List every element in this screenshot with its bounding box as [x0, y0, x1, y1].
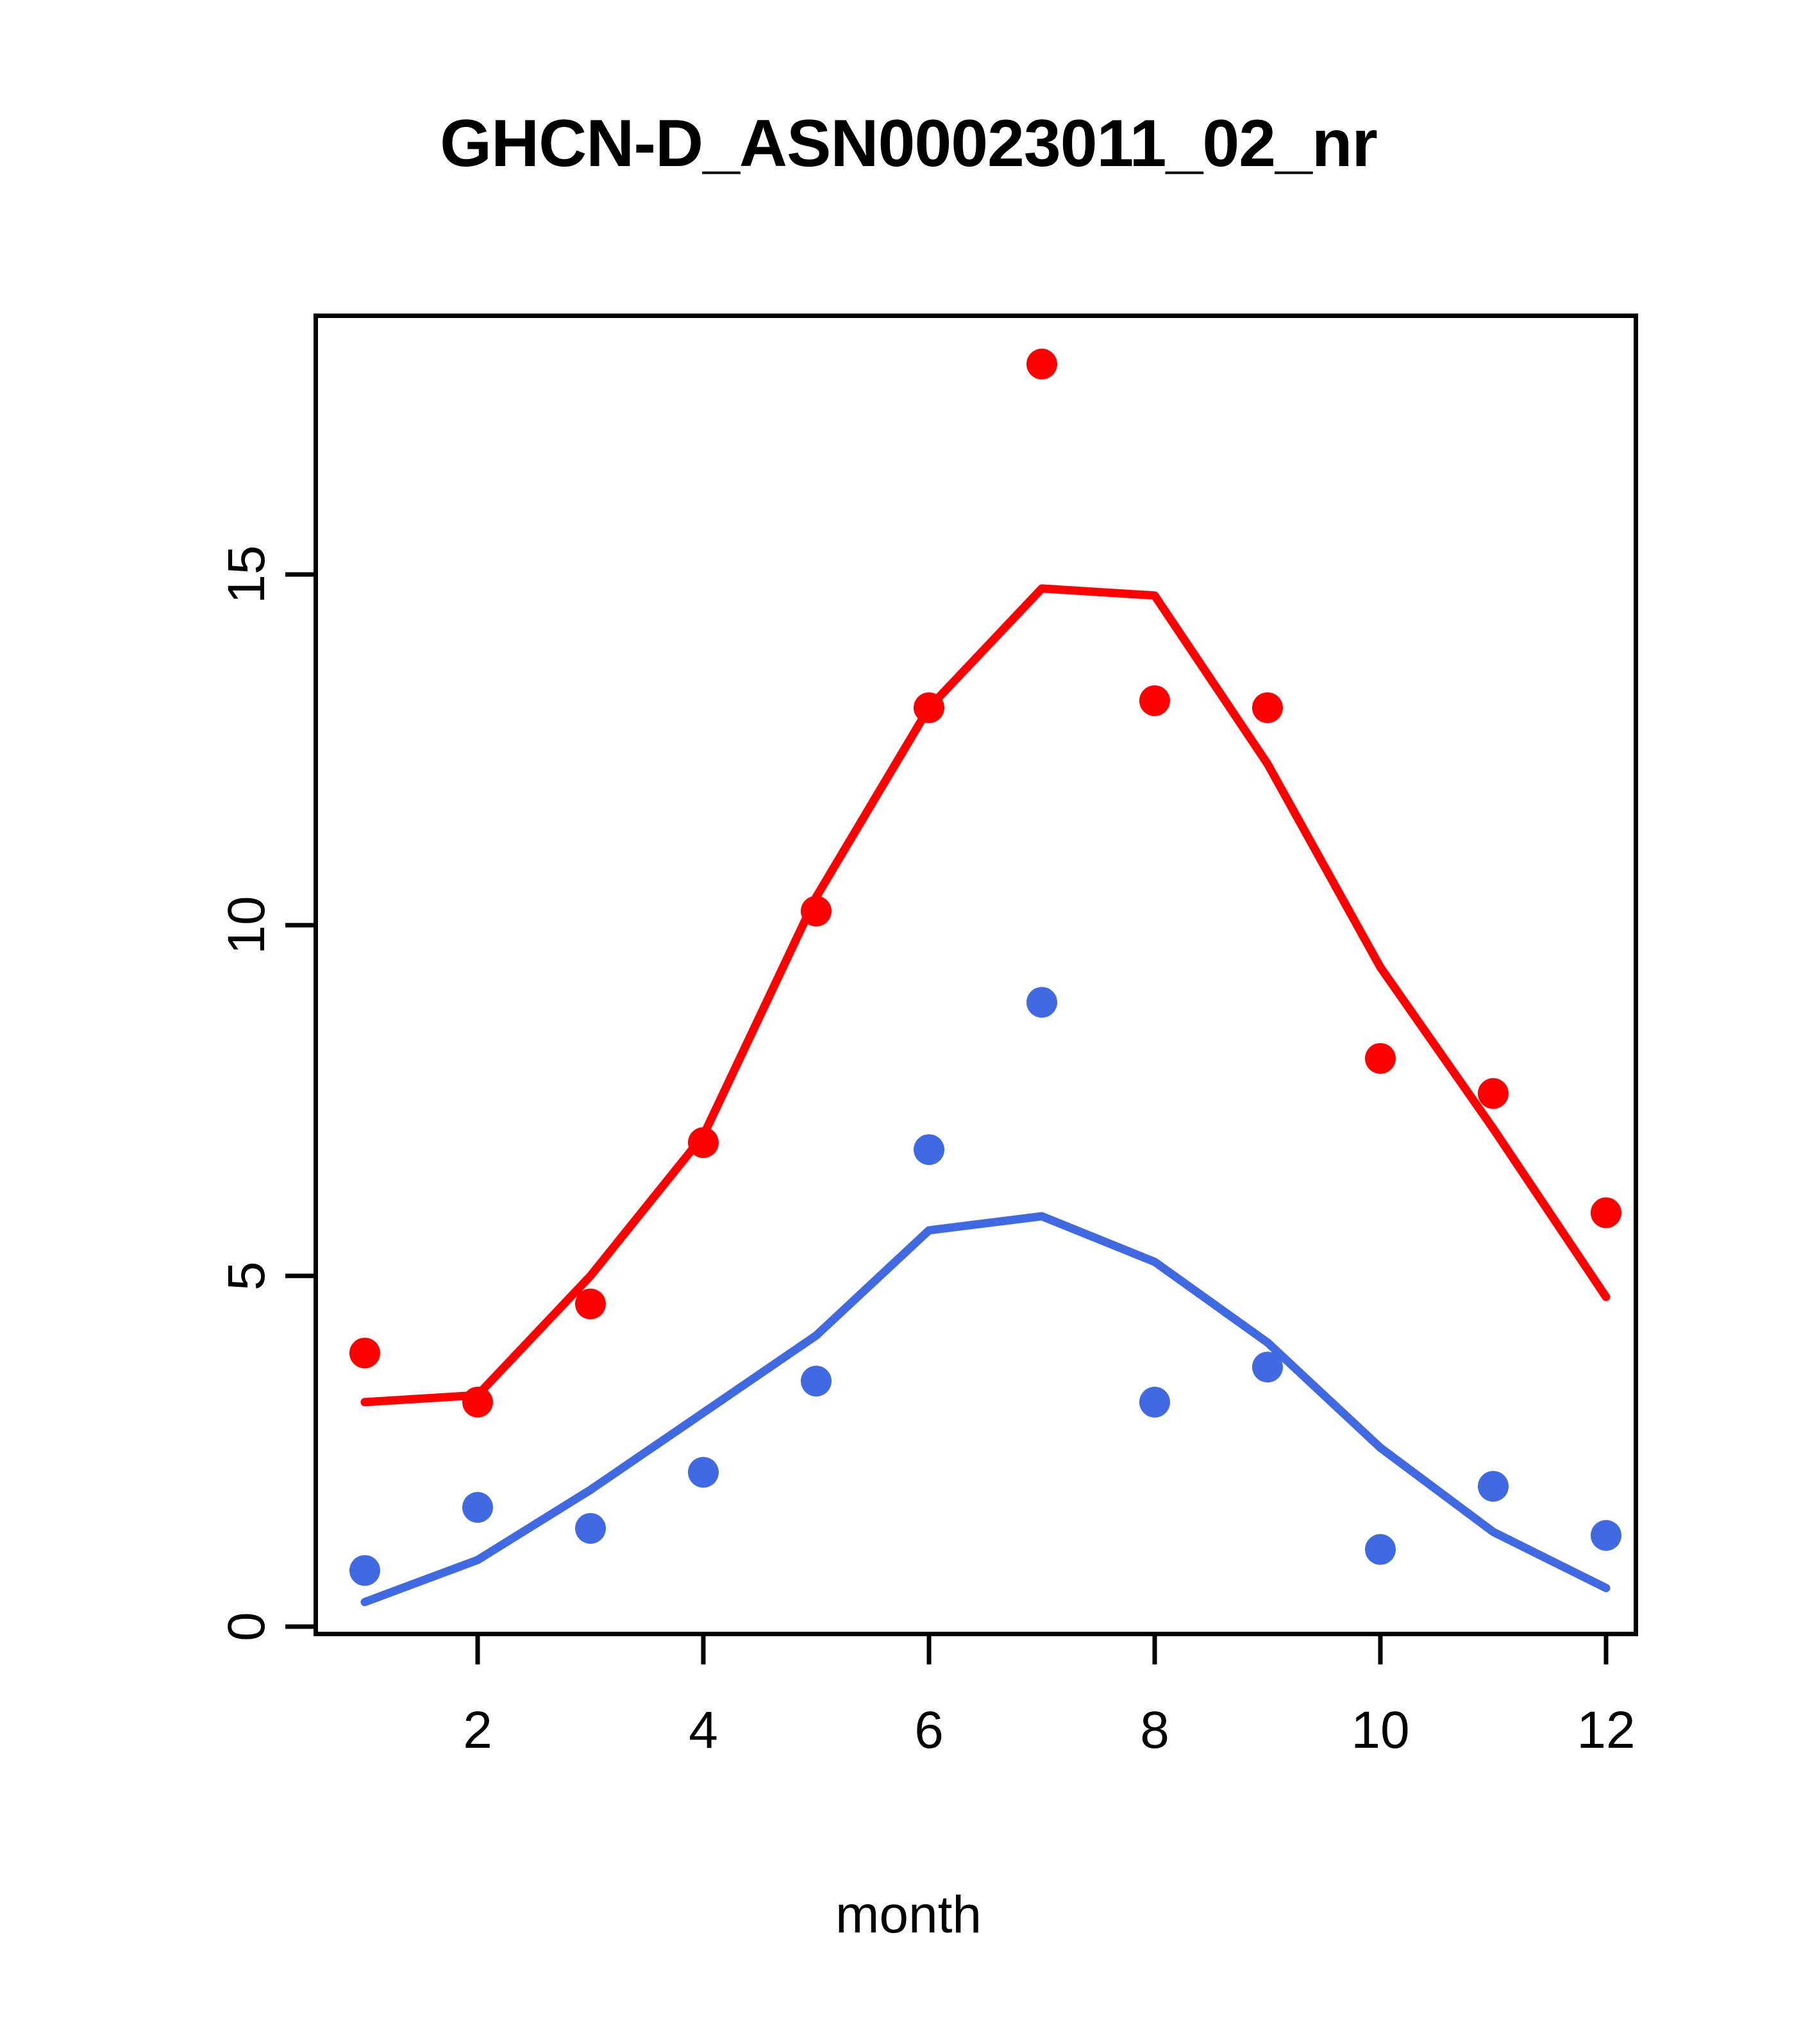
- chart-canvas: GHCN-D_ASN00023011_02_nr 051015 24681012…: [0, 0, 1817, 2044]
- data-point-blue-points: [688, 1457, 719, 1487]
- y-axis-tick-label: 0: [215, 1562, 279, 1691]
- x-axis-tick-label: 12: [1510, 1700, 1702, 1761]
- data-point-blue-points: [914, 1134, 944, 1165]
- data-point-red-points: [1478, 1078, 1509, 1109]
- x-axis-title: month: [0, 1885, 1817, 1945]
- data-point-blue-points: [801, 1366, 832, 1396]
- x-axis-tick-label: 8: [1059, 1700, 1251, 1761]
- series-line-blue-line: [365, 1216, 1606, 1602]
- data-point-blue-points: [462, 1492, 493, 1523]
- data-point-blue-points: [575, 1513, 606, 1544]
- y-axis-tick-label: 10: [215, 861, 279, 989]
- data-series-group: [349, 349, 1621, 1602]
- data-point-red-points: [1252, 692, 1283, 723]
- data-point-blue-points: [1139, 1387, 1170, 1418]
- y-axis-tick-label: 5: [215, 1212, 279, 1340]
- x-axis-tick-label: 4: [607, 1700, 800, 1761]
- data-point-red-points: [1139, 685, 1170, 716]
- data-point-blue-points: [349, 1555, 380, 1586]
- data-point-blue-points: [1478, 1471, 1509, 1502]
- data-point-red-points: [1365, 1043, 1396, 1074]
- x-axis-tick-label: 10: [1284, 1700, 1477, 1761]
- x-axis-tick-label: 6: [833, 1700, 1025, 1761]
- x-axis-tick-label: 2: [381, 1700, 574, 1761]
- data-point-blue-points: [1026, 987, 1057, 1018]
- data-point-red-points: [349, 1337, 380, 1368]
- series-line-red-line: [365, 589, 1606, 1402]
- data-point-red-points: [1026, 349, 1057, 380]
- y-axis-tick-label: 15: [215, 510, 279, 639]
- data-point-blue-points: [1365, 1534, 1396, 1565]
- data-point-red-points: [1591, 1198, 1621, 1228]
- data-point-blue-points: [1591, 1520, 1621, 1551]
